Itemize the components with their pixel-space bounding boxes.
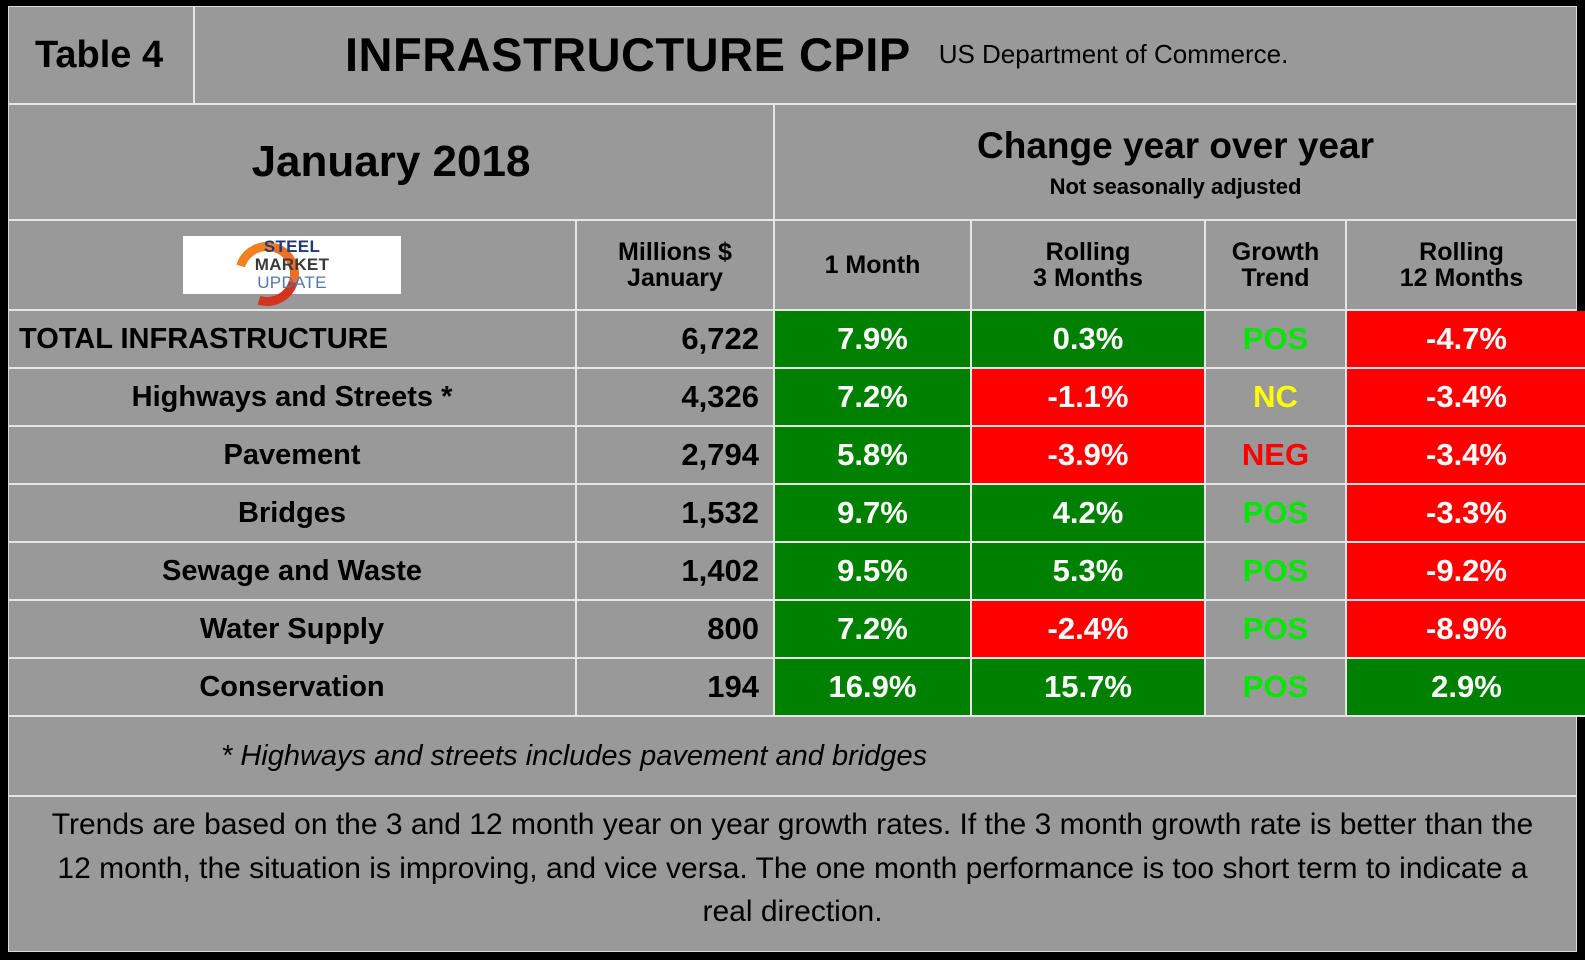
row-one-month: 5.8% <box>775 427 972 485</box>
row-rolling-12: -4.7% <box>1347 311 1585 369</box>
row-rolling-12: 2.9% <box>1347 659 1585 717</box>
logo-word-market: MARKET <box>255 256 330 274</box>
table-grid: Table 4 INFRASTRUCTURE CPIP US Departmen… <box>8 6 1577 952</box>
row-growth-trend: POS <box>1206 601 1347 659</box>
row-one-month: 7.9% <box>775 311 972 369</box>
row-rolling-3: -2.4% <box>972 601 1206 659</box>
row-rolling-12: -3.4% <box>1347 427 1585 485</box>
row-one-month: 7.2% <box>775 369 972 427</box>
column-header-rolling3-line1: Rolling <box>1033 239 1143 266</box>
column-header-amount-line2: January <box>618 265 732 292</box>
steel-market-update-logo: STEEL MARKET UPDATE <box>183 236 401 294</box>
row-amount: 800 <box>577 601 775 659</box>
row-amount: 6,722 <box>577 311 775 369</box>
row-category: Pavement <box>9 427 577 485</box>
change-heading: Change year over year <box>977 126 1374 165</box>
period-heading: January 2018 <box>9 105 775 221</box>
row-category: Bridges <box>9 485 577 543</box>
column-header-rolling3-line2: 3 Months <box>1033 265 1143 292</box>
row-rolling-3: 5.3% <box>972 543 1206 601</box>
change-subheading: Not seasonally adjusted <box>1050 175 1302 198</box>
column-header-amount: Millions $ January <box>577 221 775 311</box>
row-growth-trend: NEG <box>1206 427 1347 485</box>
row-rolling-3: 0.3% <box>972 311 1206 369</box>
column-header-trend-line2: Trend <box>1232 265 1320 292</box>
logo-word-steel: STEEL <box>255 238 330 256</box>
column-header-one-month: 1 Month <box>775 221 972 311</box>
row-growth-trend: POS <box>1206 543 1347 601</box>
row-one-month: 7.2% <box>775 601 972 659</box>
logo-word-update: UPDATE <box>255 274 330 292</box>
row-category: Water Supply <box>9 601 577 659</box>
row-rolling-3: 15.7% <box>972 659 1206 717</box>
explanation-text: Trends are based on the 3 and 12 month y… <box>9 797 1576 951</box>
row-category: TOTAL INFRASTRUCTURE <box>9 311 577 369</box>
row-rolling-12: -3.3% <box>1347 485 1585 543</box>
row-growth-trend: POS <box>1206 311 1347 369</box>
row-amount: 194 <box>577 659 775 717</box>
column-header-amount-line1: Millions $ <box>618 239 732 266</box>
row-growth-trend: NC <box>1206 369 1347 427</box>
row-one-month: 16.9% <box>775 659 972 717</box>
row-rolling-3: 4.2% <box>972 485 1206 543</box>
row-rolling-3: -3.9% <box>972 427 1206 485</box>
row-category: Highways and Streets * <box>9 369 577 427</box>
column-header-growth-trend: Growth Trend <box>1206 221 1347 311</box>
change-heading-group: Change year over year Not seasonally adj… <box>775 105 1576 221</box>
row-rolling-12: -9.2% <box>1347 543 1585 601</box>
row-rolling-3: -1.1% <box>972 369 1206 427</box>
row-growth-trend: POS <box>1206 659 1347 717</box>
row-rolling-12: -8.9% <box>1347 601 1585 659</box>
row-amount: 4,326 <box>577 369 775 427</box>
page-title: INFRASTRUCTURE CPIP <box>345 30 911 80</box>
column-header-one-month-label: 1 Month <box>825 252 921 279</box>
row-amount: 1,402 <box>577 543 775 601</box>
row-one-month: 9.5% <box>775 543 972 601</box>
column-header-rolling-12: Rolling 12 Months <box>1347 221 1576 311</box>
footnote: * Highways and streets includes pavement… <box>9 717 1576 797</box>
row-rolling-12: -3.4% <box>1347 369 1585 427</box>
column-header-logo: STEEL MARKET UPDATE <box>9 221 577 311</box>
column-header-rolling12-line2: 12 Months <box>1400 265 1524 292</box>
table-label: Table 4 <box>9 7 195 105</box>
row-category: Sewage and Waste <box>9 543 577 601</box>
table-frame: Table 4 INFRASTRUCTURE CPIP US Departmen… <box>0 0 1585 960</box>
column-header-rolling12-line1: Rolling <box>1400 239 1524 266</box>
row-one-month: 9.7% <box>775 485 972 543</box>
row-amount: 1,532 <box>577 485 775 543</box>
row-growth-trend: POS <box>1206 485 1347 543</box>
title-band: INFRASTRUCTURE CPIP US Department of Com… <box>195 7 1576 105</box>
source-note: US Department of Commerce. <box>939 41 1289 69</box>
row-category: Conservation <box>9 659 577 717</box>
row-amount: 2,794 <box>577 427 775 485</box>
column-header-trend-line1: Growth <box>1232 239 1320 266</box>
column-header-rolling-3: Rolling 3 Months <box>972 221 1206 311</box>
logo-text: STEEL MARKET UPDATE <box>255 238 330 292</box>
